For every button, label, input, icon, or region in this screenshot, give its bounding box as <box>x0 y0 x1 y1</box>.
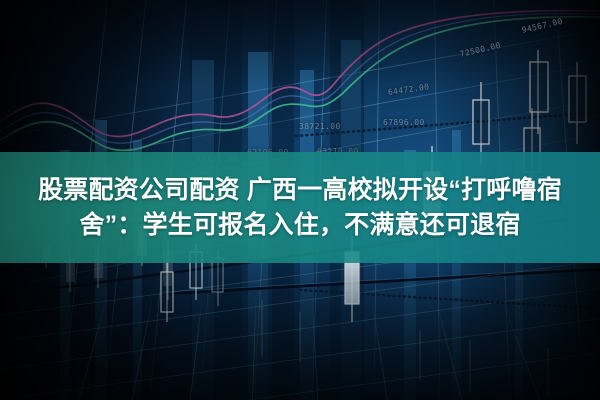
headline-line-2: 舍”：学生可报名入住，不满意还可退宿 <box>79 209 520 242</box>
price-label: 38721.00 <box>299 122 341 131</box>
price-label: 64472.00 <box>387 82 430 97</box>
news-thumbnail-image: 94567.0072500.0064472.0067896.0038721.00… <box>0 0 600 400</box>
headline-line-1: 股票配资公司配资 广西一高校拟开设“打呼噜宿 <box>38 174 562 207</box>
headline-text: 股票配资公司配资 广西一高校拟开设“打呼噜宿 舍”：学生可报名入住，不满意还可退… <box>0 152 600 263</box>
price-label: 72500.00 <box>459 41 502 59</box>
price-label: 94567.00 <box>521 17 564 35</box>
price-label: 67896.00 <box>383 118 425 127</box>
